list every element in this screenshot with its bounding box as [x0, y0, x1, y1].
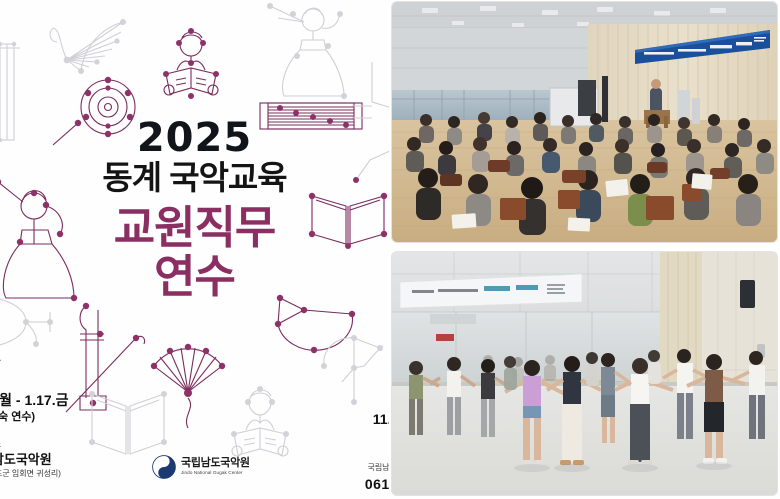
info-venue-label: 연수장소	[0, 440, 158, 450]
janggu-icon	[274, 292, 362, 356]
info-period-label: 연수기간	[0, 358, 158, 368]
reading-person-icon	[160, 24, 222, 102]
info-block-registration: 접수기간 2024. 11.4.월 9:00 11.16.토 18:00 국립남…	[268, 358, 389, 492]
info-reg-label: 접수기간	[268, 358, 389, 368]
poster-screenshot: 2025 동계 국악교육 교원직무 연수 연수기간 5. 1.13.월 - 1.…	[0, 0, 780, 499]
photo-column: 국악 강습 - 바닥에 앉은 수강생들과 장구·보면대 2024 동계 국악교육…	[389, 0, 780, 499]
headline-main-line2: 연수	[0, 253, 389, 302]
headline-subtitle: 동계 국악교육	[0, 159, 389, 197]
info-contact-label: 국립남도국악원 교육운영과	[268, 463, 389, 473]
info-reg-row2: 11.16.토 18:00	[268, 410, 389, 429]
dance-studio-photo[interactable]: 강강술래 - 손을 잡고 원을 도는 참가자들 2024 하계 국악교육 교원직…	[392, 252, 777, 495]
taegeuk-icon	[152, 455, 176, 479]
info-reg-big: 2024.	[268, 370, 389, 391]
dance-studio-scene	[392, 252, 777, 495]
poster-headline: 2025 동계 국악교육 교원직무 연수	[0, 118, 389, 301]
buchae-fan-icon	[148, 346, 228, 432]
lecture-hall-photo[interactable]: 국악 강습 - 바닥에 앉은 수강생들과 장구·보면대 2024 동계 국악교육…	[392, 2, 777, 242]
lecture-hall-scene	[392, 2, 777, 242]
info-period-range: 1.13.월 - 1.17.금	[0, 391, 158, 410]
info-contact-tel[interactable]: 061-540-4042	[268, 476, 389, 492]
info-period-big: 5.	[0, 370, 158, 391]
headline-main-line1: 교원직무	[0, 204, 389, 253]
buchae-fan-icon	[45, 8, 125, 78]
hanbok-dancer-icon	[258, 4, 354, 102]
info-reg-row1-date: 11.4.	[388, 392, 389, 408]
info-venue-name: 국립남도국악원	[0, 452, 158, 469]
info-reg-row1: 11.4.월 9:00	[268, 391, 389, 410]
info-venue-sub: (전남 진도군 임회면 귀성리)	[0, 469, 158, 479]
organization-logo: 국립남도국악원 Jindo National Gugak Center	[152, 455, 250, 479]
info-period-note: 5일(합숙 연수)	[0, 410, 158, 424]
info-block-period: 연수기간 5. 1.13.월 - 1.17.금 5일(합숙 연수) 연수장소 국…	[0, 358, 158, 479]
logo-english-name: Jindo National Gugak Center	[181, 471, 250, 476]
headline-year: 2025	[0, 118, 389, 158]
info-reg-row2-date: 11.16.	[373, 411, 389, 427]
poster-panel: 2025 동계 국악교육 교원직무 연수 연수기간 5. 1.13.월 - 1.…	[0, 0, 389, 499]
logo-korean-name: 국립남도국악원	[181, 458, 250, 469]
